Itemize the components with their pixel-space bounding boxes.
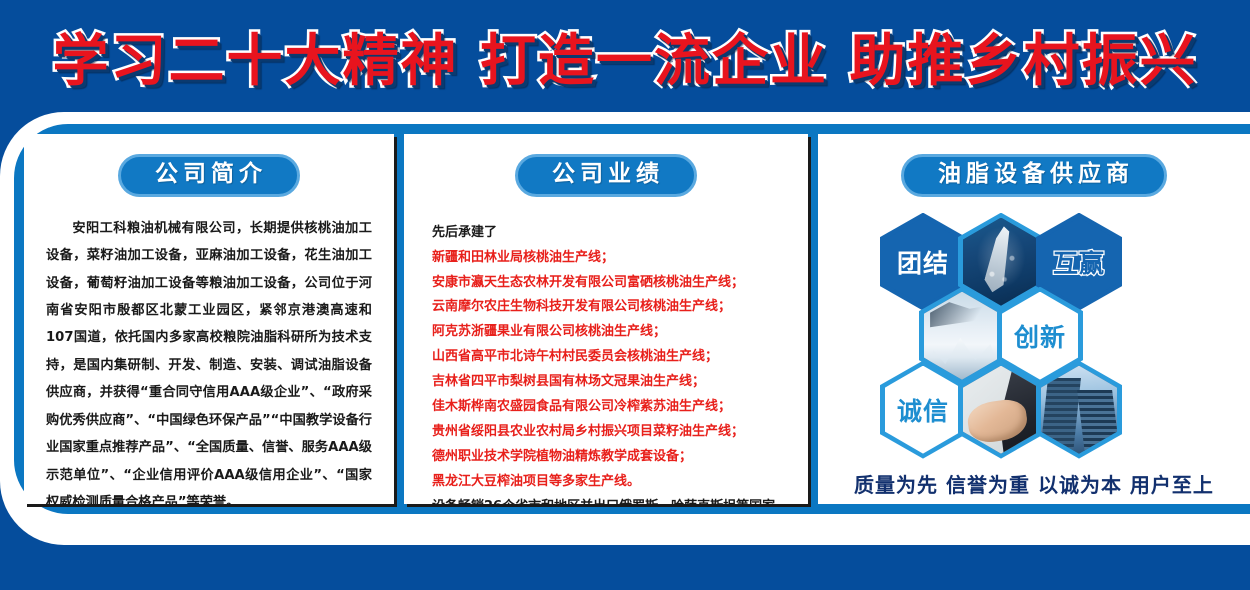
supplier-slogan: 质量为先 信誉为重 以诚为本 用户至上	[836, 469, 1232, 498]
banner-title: 学习二十大精神 打造一流企业 助推乡村振兴	[53, 16, 1198, 97]
performance-project-line: 德州职业技术学院植物油精炼教学成套设备；	[432, 445, 790, 470]
mountain-peak-photo	[924, 292, 1000, 380]
hex-inner	[924, 292, 1000, 380]
company-intro-text: 安阳工科粮油机械有限公司，长期提供核桃油加工设备，菜籽油加工设备，亚麻油加工设备…	[42, 215, 376, 504]
performance-project-line: 吉林省四平市梨树县国有林场文冠果油生产线；	[432, 370, 790, 395]
panels-row: 公司简介 安阳工科粮油机械有限公司，长期提供核桃油加工设备，菜籽油加工设备，亚麻…	[24, 134, 1250, 504]
hex-label: 团结	[897, 244, 949, 280]
hex-label: 互赢	[1053, 244, 1105, 280]
performance-footer-list: 设备畅销26个省市和地区并出口俄罗斯、哈萨克斯坦等国家。企业始终坚持“专注质量，…	[432, 495, 790, 504]
hex-inner	[963, 218, 1039, 306]
performance-project-line: 佳木斯桦南农盛园食品有限公司冷榨紫苏油生产线；	[432, 395, 790, 420]
performance-project-line: 黑龙江大豆榨油项目等多家生产线。	[432, 470, 790, 495]
handshake-photo	[963, 366, 1039, 454]
performance-intro-line: 先后承建了	[432, 221, 790, 246]
performance-project-line: 山西省高平市北诗午村村民委员会核桃油生产线；	[432, 345, 790, 370]
performance-project-line: 阿克苏浙疆果业有限公司核桃油生产线；	[432, 320, 790, 345]
hex-inner	[1041, 366, 1117, 454]
hex-inner: 互赢	[1041, 218, 1117, 306]
hex-inner: 诚信	[885, 366, 961, 454]
aircraft-carrier-photo	[963, 218, 1039, 306]
performance-project-line: 贵州省绥阳县农业农村局乡村振兴项目菜籽油生产线；	[432, 420, 790, 445]
performance-body: 先后承建了 新疆和田林业局核桃油生产线；安康市瀛天生态农林开发有限公司富硒核桃油…	[422, 221, 790, 504]
badge-company-performance: 公司业绩	[515, 154, 697, 197]
title-banner: 学习二十大精神 打造一流企业 助推乡村振兴	[0, 0, 1250, 112]
hex-inner	[963, 366, 1039, 454]
badge-supplier: 油脂设备供应商	[901, 154, 1167, 197]
hexagon-cluster: 团结互赢创新诚信	[836, 211, 1232, 463]
hex-label: 诚信	[897, 392, 949, 428]
performance-project-line: 安康市瀛天生态农林开发有限公司富硒核桃油生产线；	[432, 271, 790, 296]
hex-inner: 创新	[1002, 292, 1078, 380]
hex-label: 创新	[1014, 318, 1066, 354]
panel-company-performance: 公司业绩 先后承建了 新疆和田林业局核桃油生产线；安康市瀛天生态农林开发有限公司…	[404, 134, 808, 504]
skyscraper-photo	[1041, 366, 1117, 454]
performance-footer-line: 设备畅销26个省市和地区并出口俄罗斯、哈萨克斯坦等国家。	[432, 495, 790, 504]
badge-company-intro: 公司简介	[118, 154, 300, 197]
performance-project-line: 云南摩尔农庄生物科技开发有限公司核桃油生产线；	[432, 295, 790, 320]
panel-company-intro: 公司简介 安阳工科粮油机械有限公司，长期提供核桃油加工设备，菜籽油加工设备，亚麻…	[24, 134, 394, 504]
panel-supplier-values: 油脂设备供应商 团结互赢创新诚信 质量为先 信誉为重 以诚为本 用户至上	[818, 134, 1250, 504]
performance-project-line: 新疆和田林业局核桃油生产线；	[432, 246, 790, 271]
hex-inner: 团结	[885, 218, 961, 306]
performance-project-list: 新疆和田林业局核桃油生产线；安康市瀛天生态农林开发有限公司富硒核桃油生产线；云南…	[432, 246, 790, 496]
